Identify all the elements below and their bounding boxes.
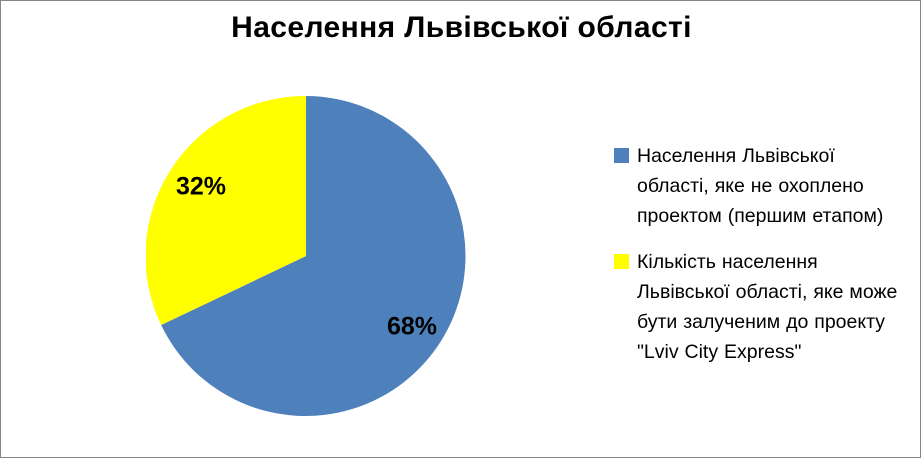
legend-swatch-blue-icon bbox=[614, 148, 629, 163]
slice-label-yellow: 32% bbox=[176, 173, 226, 202]
legend-item-yellow[interactable]: Кількість населення Львівської області, … bbox=[612, 247, 912, 367]
pie-chart-container: Населення Львівської області 32% 68% Нас… bbox=[0, 0, 921, 458]
pie-graphic bbox=[146, 96, 466, 416]
chart-title: Населення Львівської області bbox=[1, 11, 921, 45]
chart-legend: Населення Львівської області, яке не охо… bbox=[612, 141, 912, 383]
pie-plot-area bbox=[146, 96, 466, 416]
legend-item-blue-label: Населення Львівської області, яке не охо… bbox=[637, 141, 912, 231]
legend-item-yellow-label: Кількість населення Львівської області, … bbox=[637, 247, 912, 367]
slice-label-blue: 68% bbox=[387, 313, 437, 342]
legend-item-blue[interactable]: Населення Львівської області, яке не охо… bbox=[612, 141, 912, 231]
legend-swatch-yellow-icon bbox=[614, 254, 629, 269]
